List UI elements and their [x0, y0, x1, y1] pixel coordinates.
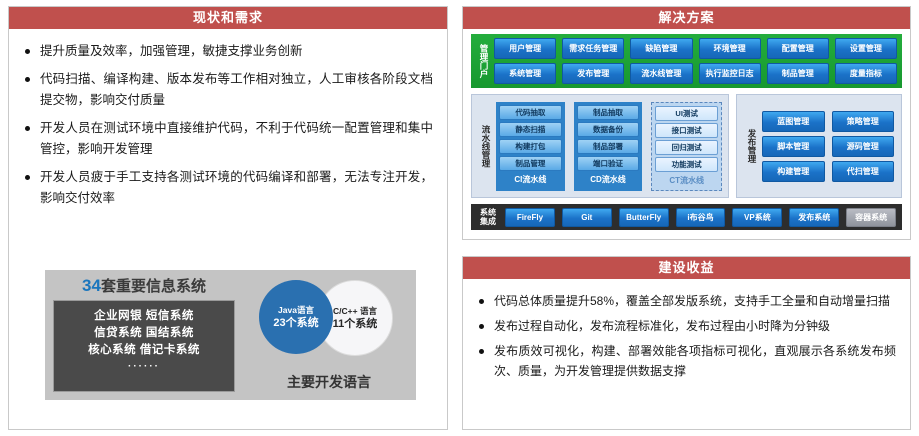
pipeline-and-release-row: 流水线管理 代码抽取 静态扫描 构建打包 制品管理 CI流水线 制品抽取 数据备… — [471, 94, 902, 198]
release-button[interactable]: 代扫管理 — [832, 161, 895, 182]
management-portal-button-grid: 用户管理 需求任务管理 缺陷管理 环境管理 配置管理 设置管理 系统管理 发布管… — [494, 38, 897, 84]
pipeline-step[interactable]: 数据备份 — [577, 122, 640, 137]
venn-circle-java: Java语言 23个系统 — [259, 280, 333, 354]
panel-title-benefits: 建设收益 — [463, 257, 910, 279]
system-integration-label: 系统集成 — [477, 208, 499, 226]
list-item: 代码扫描、编译构建、版本发布等工作相对独立，人工审核各阶段文档提交物，影响交付质… — [23, 69, 433, 111]
system-row: 核心系统 借记卡系统 — [54, 342, 234, 359]
pipeline-step[interactable]: UI测试 — [655, 106, 718, 121]
release-management-section: 发布管理 蓝图管理 策略管理 脚本管理 源码管理 构建管理 代扫管理 — [736, 94, 902, 198]
portal-button[interactable]: 环境管理 — [699, 38, 761, 59]
portal-button[interactable]: 执行监控日志 — [699, 63, 761, 84]
release-button[interactable]: 策略管理 — [832, 111, 895, 132]
release-button[interactable]: 蓝图管理 — [762, 111, 825, 132]
pipeline-name: CD流水线 — [577, 173, 640, 186]
venn-java-label: Java语言 — [278, 305, 314, 316]
portal-button[interactable]: 制品管理 — [767, 63, 829, 84]
current-status-bullet-list: 提升质量及效率，加强管理，敏捷支撑业务创新 代码扫描、编译构建、版本发布等工作相… — [9, 29, 447, 209]
integration-button[interactable]: i布谷鸟 — [676, 208, 726, 227]
pipeline-management-section: 流水线管理 代码抽取 静态扫描 构建打包 制品管理 CI流水线 制品抽取 数据备… — [471, 94, 729, 198]
language-venn-block: C/C++ 语言 11个系统 Java语言 23个系统 主要开发语言 — [241, 270, 416, 400]
pipeline-step[interactable]: 制品部署 — [577, 139, 640, 154]
list-item: 代码总体质量提升58%，覆盖全部发版系统，支持手工全量和自动增量扫描 — [477, 291, 896, 311]
list-item: 开发人员在测试环境中直接维护代码，不利于代码统一配置管理和集中管控，影响开发管理 — [23, 118, 433, 160]
release-button-grid: 蓝图管理 策略管理 脚本管理 源码管理 构建管理 代扫管理 — [762, 111, 894, 182]
pipeline-step[interactable]: 制品管理 — [499, 156, 562, 171]
integration-button[interactable]: VP系统 — [732, 208, 782, 227]
venn-java-value: 23个系统 — [273, 316, 318, 330]
pipeline-step[interactable]: 代码抽取 — [499, 105, 562, 120]
release-management-label: 发布管理 — [747, 129, 757, 163]
pipeline-columns: 代码抽取 静态扫描 构建打包 制品管理 CI流水线 制品抽取 数据备份 制品部署… — [496, 102, 722, 191]
release-button[interactable]: 构建管理 — [762, 161, 825, 182]
system-row-ellipsis: ······ — [54, 359, 234, 375]
pipeline-step[interactable]: 接口测试 — [655, 123, 718, 138]
integration-button[interactable]: Git — [562, 208, 612, 227]
list-item: 发布质效可视化，构建、部署效能各项指标可视化，直观展示各系统发布频次、质量，为开… — [477, 341, 896, 381]
benefits-bullet-list: 代码总体质量提升58%，覆盖全部发版系统，支持手工全量和自动增量扫描 发布过程自… — [463, 279, 910, 381]
systems-unit: 套 — [101, 278, 116, 295]
panel-solution: 解决方案 管理门户 用户管理 需求任务管理 缺陷管理 环境管理 配置管理 设置管… — [462, 6, 911, 240]
systems-count: 34 — [82, 276, 101, 295]
integration-button[interactable]: FireFly — [505, 208, 555, 227]
pipeline-column-ci: 代码抽取 静态扫描 构建打包 制品管理 CI流水线 — [496, 102, 565, 191]
portal-button[interactable]: 缺陷管理 — [630, 38, 692, 59]
pipeline-name: CI流水线 — [499, 173, 562, 186]
portal-button[interactable]: 设置管理 — [835, 38, 897, 59]
portal-button[interactable]: 系统管理 — [494, 63, 556, 84]
management-portal-label: 管理门户 — [479, 44, 489, 78]
portal-button[interactable]: 度量指标 — [835, 63, 897, 84]
pipeline-step[interactable]: 回归测试 — [655, 140, 718, 155]
release-button[interactable]: 脚本管理 — [762, 136, 825, 157]
pipeline-step[interactable]: 静态扫描 — [499, 122, 562, 137]
list-item: 发布过程自动化，发布流程标准化，发布过程由小时降为分钟级 — [477, 316, 896, 336]
venn-cpp-label: C/C++ 语言 — [333, 306, 377, 317]
integration-button[interactable]: ButterFly — [619, 208, 669, 227]
pipeline-column-ct: UI测试 接口测试 回归测试 功能测试 CT流水线 — [651, 102, 722, 191]
pipeline-step[interactable]: 制品抽取 — [577, 105, 640, 120]
portal-button[interactable]: 发布管理 — [562, 63, 624, 84]
solution-architecture-diagram: 管理门户 用户管理 需求任务管理 缺陷管理 环境管理 配置管理 设置管理 系统管… — [471, 34, 902, 231]
panel-title-solution: 解决方案 — [463, 7, 910, 29]
system-row: 信贷系统 国结系统 — [54, 325, 234, 342]
important-systems-block: 34套重要信息系统 企业网银 短信系统 信贷系统 国结系统 核心系统 借记卡系统… — [45, 270, 241, 400]
venn-caption: 主要开发语言 — [259, 372, 399, 392]
portal-button[interactable]: 配置管理 — [767, 38, 829, 59]
integration-button[interactable]: 发布系统 — [789, 208, 839, 227]
systems-title-rest: 重要信息系统 — [116, 278, 206, 295]
portal-button[interactable]: 用户管理 — [494, 38, 556, 59]
panel-title-current-status: 现状和需求 — [9, 7, 447, 29]
portal-button[interactable]: 需求任务管理 — [562, 38, 624, 59]
venn-diagram: C/C++ 语言 11个系统 Java语言 23个系统 主要开发语言 — [259, 280, 399, 354]
integration-button[interactable]: 容器系统 — [846, 208, 896, 227]
pipeline-step[interactable]: 功能测试 — [655, 157, 718, 172]
pipeline-step[interactable]: 构建打包 — [499, 139, 562, 154]
pipeline-step[interactable]: 端口验证 — [577, 156, 640, 171]
system-integration-button-row: FireFly Git ButterFly i布谷鸟 VP系统 发布系统 容器系… — [505, 208, 896, 227]
pipeline-management-label: 流水线管理 — [481, 125, 491, 168]
slide-canvas: 现状和需求 提升质量及效率，加强管理，敏捷支撑业务创新 代码扫描、编译构建、版本… — [0, 0, 919, 436]
release-button[interactable]: 源码管理 — [832, 136, 895, 157]
management-portal-section: 管理门户 用户管理 需求任务管理 缺陷管理 环境管理 配置管理 设置管理 系统管… — [471, 34, 902, 88]
venn-cpp-value: 11个系统 — [333, 317, 378, 331]
list-item: 开发人员疲于手工支持各测试环境的代码编译和部署，无法专注开发，影响交付效率 — [23, 167, 433, 209]
system-name-box: 企业网银 短信系统 信贷系统 国结系统 核心系统 借记卡系统 ······ — [53, 300, 235, 392]
important-systems-title: 34套重要信息系统 — [53, 277, 235, 296]
portal-button[interactable]: 流水线管理 — [630, 63, 692, 84]
pipeline-name: CT流水线 — [655, 174, 718, 187]
stats-strip: 34套重要信息系统 企业网银 短信系统 信贷系统 国结系统 核心系统 借记卡系统… — [45, 270, 416, 400]
panel-current-status: 现状和需求 提升质量及效率，加强管理，敏捷支撑业务创新 代码扫描、编译构建、版本… — [8, 6, 448, 430]
pipeline-column-cd: 制品抽取 数据备份 制品部署 端口验证 CD流水线 — [574, 102, 643, 191]
system-integration-section: 系统集成 FireFly Git ButterFly i布谷鸟 VP系统 发布系… — [471, 204, 902, 230]
panel-benefits: 建设收益 代码总体质量提升58%，覆盖全部发版系统，支持手工全量和自动增量扫描 … — [462, 256, 911, 430]
list-item: 提升质量及效率，加强管理，敏捷支撑业务创新 — [23, 41, 433, 62]
system-row: 企业网银 短信系统 — [54, 308, 234, 325]
